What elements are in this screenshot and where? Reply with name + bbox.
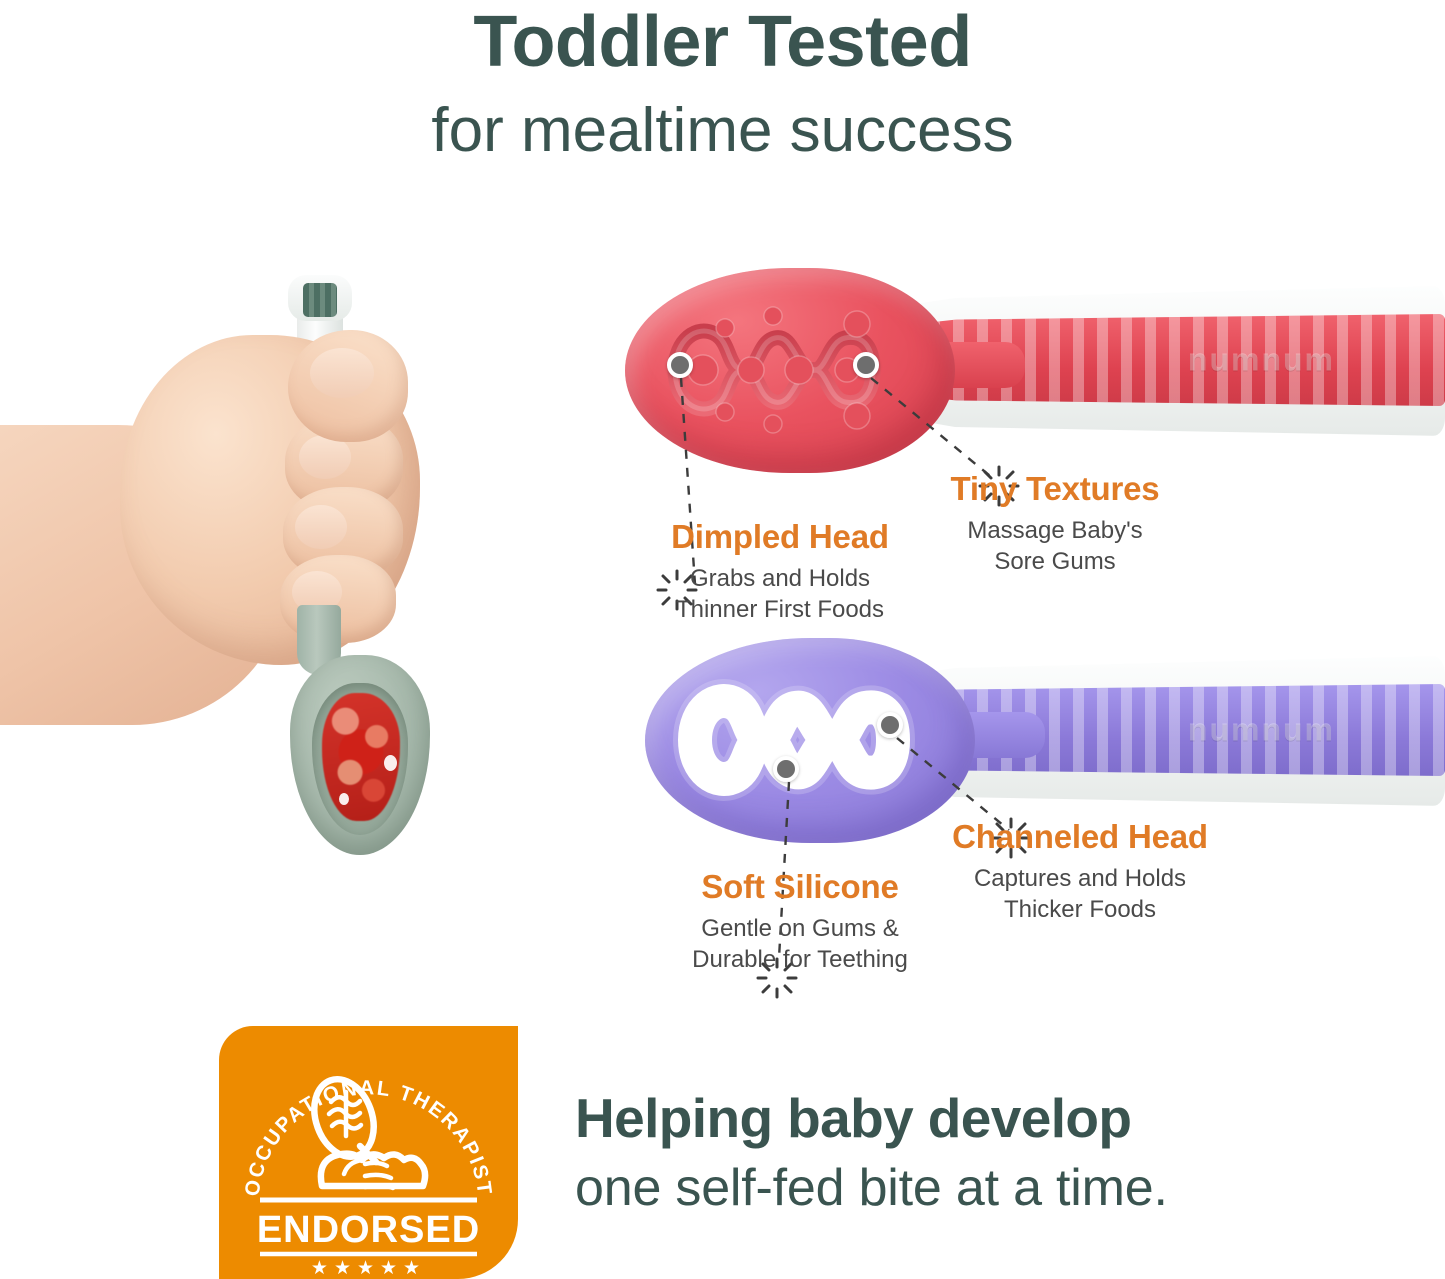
occupational-therapist-endorsed-badge: OCCUPATIONAL THERAPIST ENDORSED ★★★★★ [219, 1026, 518, 1279]
thumb [288, 330, 408, 442]
badge-arc-text: OCCUPATIONAL THERAPIST [241, 1076, 497, 1197]
thumbnail [310, 348, 374, 398]
fingernail [295, 505, 347, 549]
callout-body-line: Captures and Holds [910, 863, 1250, 894]
hero-section: Toddler Tested for mealtime success [0, 0, 1445, 162]
callout-body-line: Sore Gums [905, 546, 1205, 577]
food-highlight [384, 755, 397, 771]
tagline-line-1: Helping baby develop [575, 1090, 1405, 1147]
baby-hand-photo [0, 275, 470, 885]
callout-body-line: Durable for Teething [620, 944, 980, 975]
food-highlight [339, 793, 349, 805]
page-subtitle: for mealtime success [0, 78, 1445, 162]
tagline-line-2: one self-fed bite at a time. [575, 1161, 1405, 1215]
callout-tiny-textures: Tiny Textures Massage Baby's Sore Gums [905, 470, 1205, 577]
marker-dot-silicone[interactable] [773, 756, 799, 782]
red-spoon-diagram: numnum [625, 268, 1445, 498]
brand-emboss-text: numnum [1188, 712, 1335, 749]
callout-title: Channeled Head [910, 818, 1250, 856]
badge-graphic: OCCUPATIONAL THERAPIST ENDORSED ★★★★★ [219, 1026, 518, 1279]
badge-main-text: ENDORSED [257, 1209, 480, 1251]
tagline-block: Helping baby develop one self-fed bite a… [575, 1090, 1405, 1215]
marker-dot-textures[interactable] [853, 352, 879, 378]
callout-body: Massage Baby's Sore Gums [905, 515, 1205, 577]
callout-title: Tiny Textures [905, 470, 1205, 508]
marker-dot-dimpled[interactable] [667, 352, 693, 378]
callout-body-line: Thicker Foods [910, 894, 1250, 925]
brand-emboss-text: numnum [1188, 342, 1335, 379]
badge-stars: ★★★★★ [311, 1257, 426, 1279]
callout-body: Captures and Holds Thicker Foods [910, 863, 1250, 925]
callout-body-line: Thinner First Foods [600, 594, 960, 625]
green-spoon-cap-grip [303, 283, 337, 317]
page-title: Toddler Tested [0, 0, 1445, 78]
marker-dot-channeled[interactable] [877, 712, 903, 738]
callout-body-line: Massage Baby's [905, 515, 1205, 546]
callout-channeled-head: Channeled Head Captures and Holds Thicke… [910, 818, 1250, 925]
